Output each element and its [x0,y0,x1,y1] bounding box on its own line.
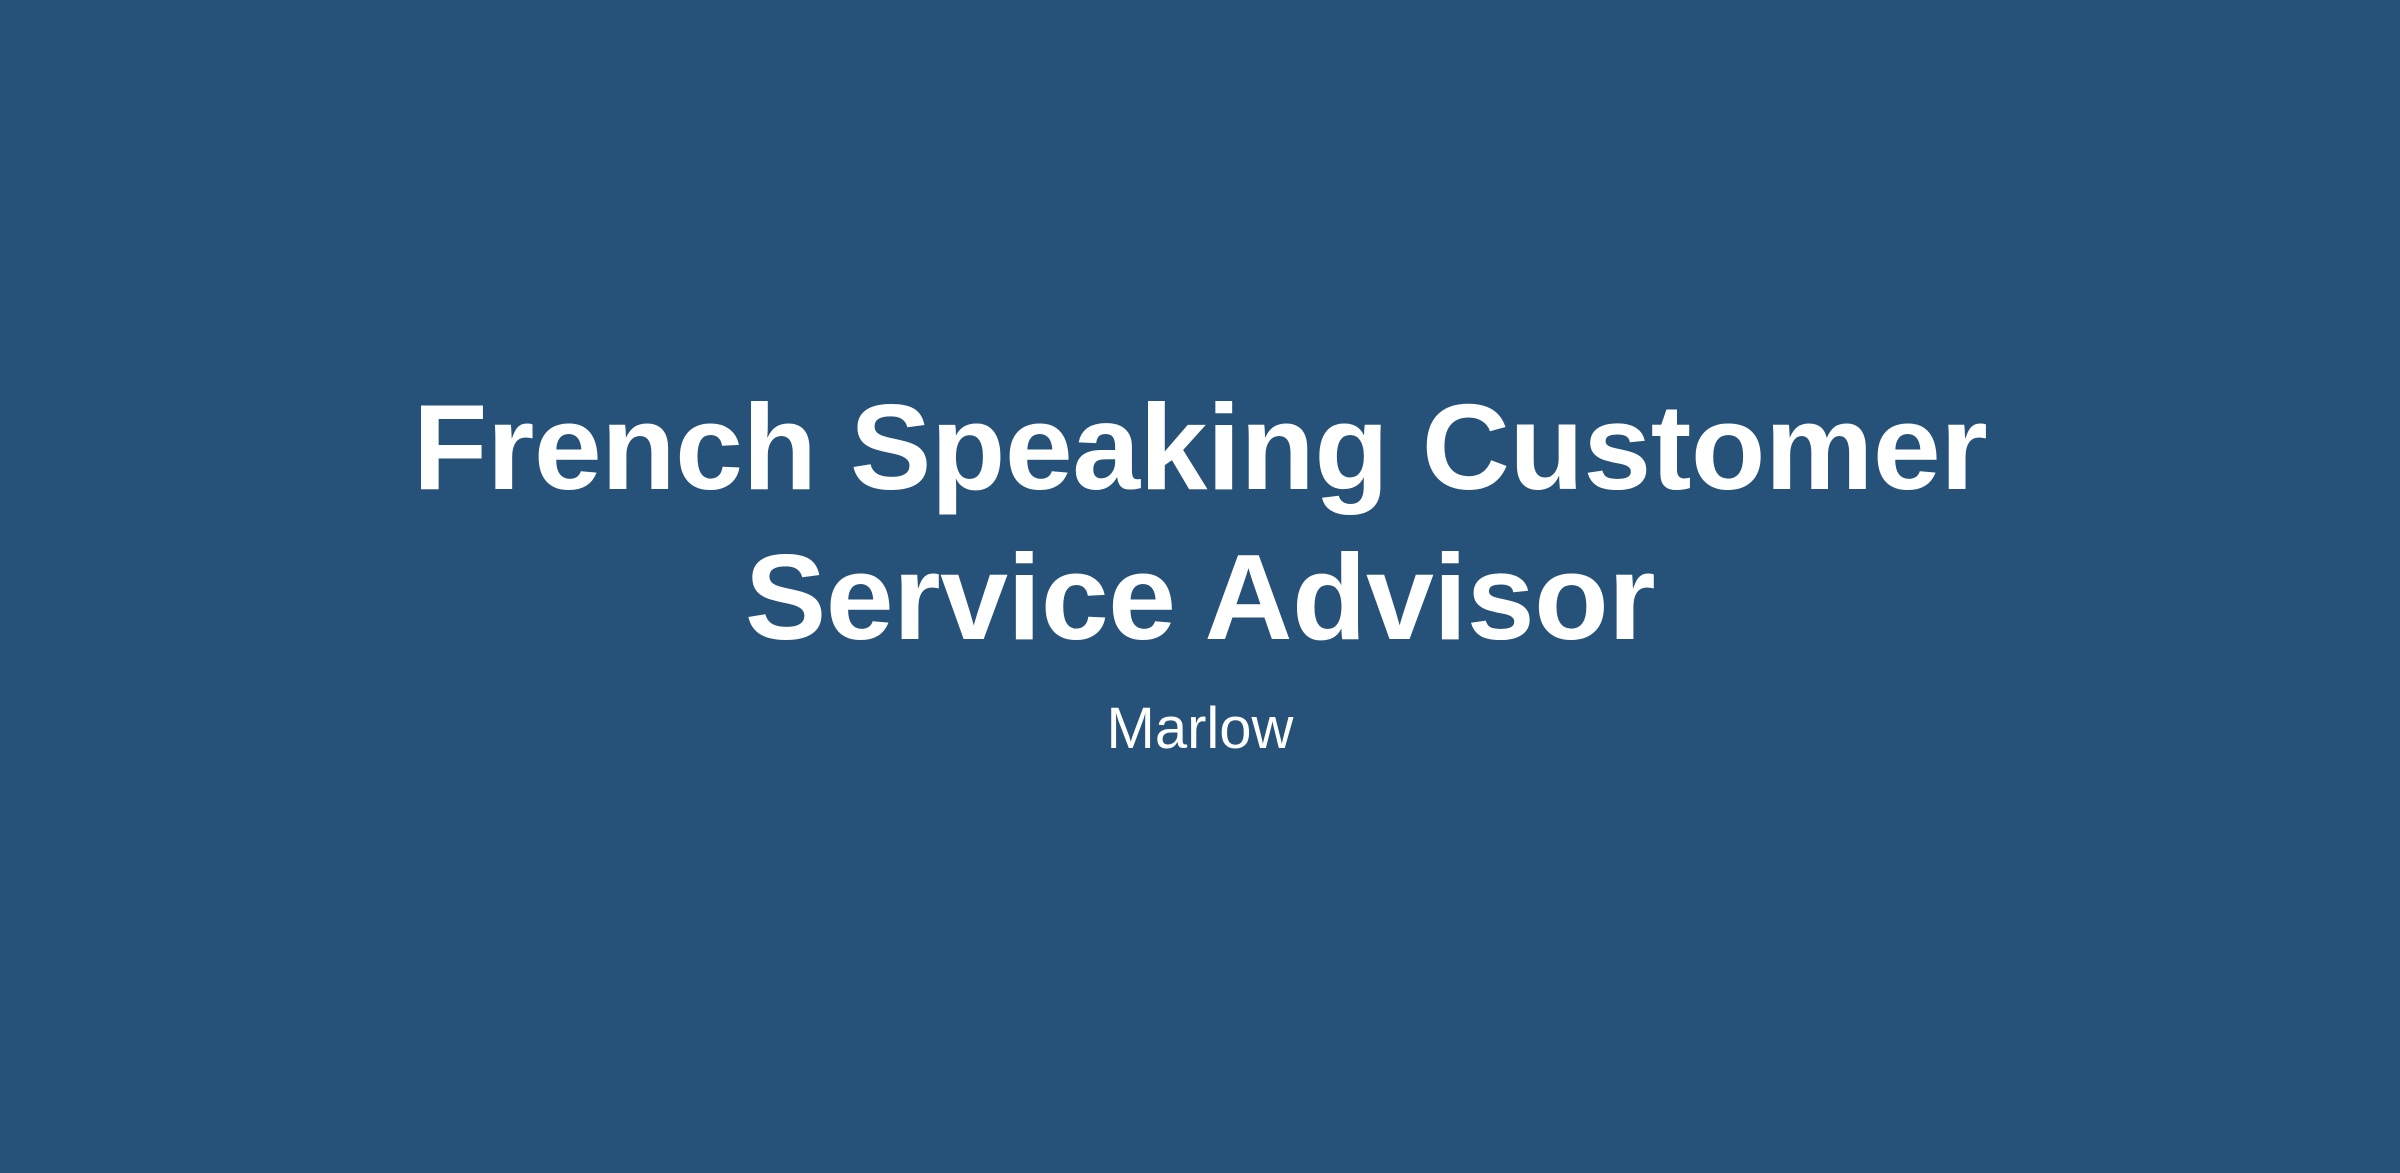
job-location: Marlow [1107,672,1294,764]
job-title: French Speaking Customer Service Advisor [410,372,1990,672]
job-hero-banner: French Speaking Customer Service Advisor… [0,0,2400,1173]
job-hero-content: French Speaking Customer Service Advisor… [380,372,2020,764]
